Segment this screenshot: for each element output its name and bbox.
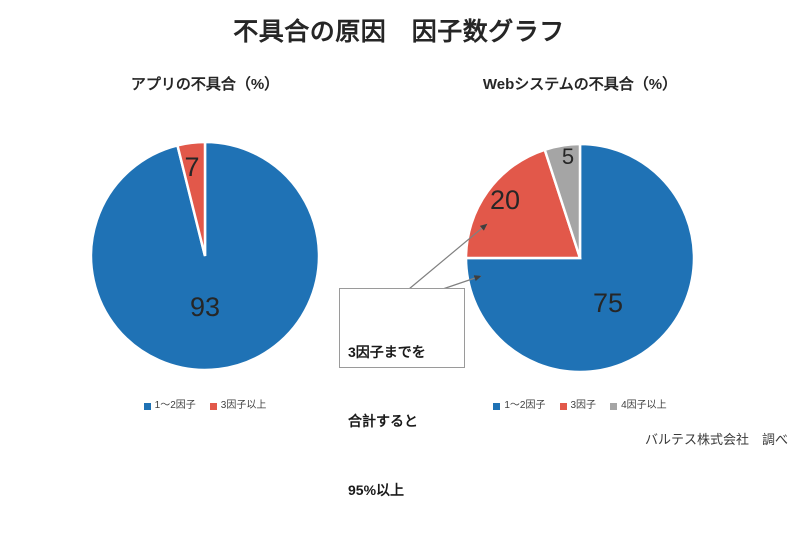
- left-chart-legend: 1〜2因子 3因子以上: [85, 399, 325, 413]
- legend-item-right-1[interactable]: 3因子: [560, 399, 597, 413]
- legend-label: 3因子以上: [221, 399, 267, 413]
- right-pie-chart: [464, 142, 696, 374]
- left-pie-label-red: 7: [168, 152, 216, 182]
- legend-swatch-icon: [210, 403, 217, 410]
- legend-item-right-2[interactable]: 4因子以上: [610, 399, 667, 413]
- legend-swatch-icon: [144, 403, 151, 410]
- page-title: 不具合の原因 因子数グラフ: [0, 16, 798, 48]
- legend-swatch-icon: [610, 403, 617, 410]
- right-pie-label-gray: 5: [547, 145, 589, 169]
- legend-label: 4因子以上: [621, 399, 667, 413]
- slide-canvas: 不具合の原因 因子数グラフ アプリの不具合（%） 93 7 1〜2因子 3因子以…: [0, 0, 798, 460]
- callout-line-1: 3因子までを: [348, 341, 464, 364]
- legend-item-left-0[interactable]: 1〜2因子: [144, 399, 196, 413]
- callout-line-3: 95%以上: [348, 479, 464, 502]
- legend-label: 1〜2因子: [504, 399, 545, 413]
- source-note: バルテス株式会社 調べ: [498, 431, 788, 449]
- legend-label: 3因子: [571, 399, 597, 413]
- right-pie-svg: [464, 142, 696, 374]
- legend-item-left-1[interactable]: 3因子以上: [210, 399, 267, 413]
- legend-item-right-0[interactable]: 1〜2因子: [493, 399, 545, 413]
- legend-swatch-icon: [560, 403, 567, 410]
- legend-label: 1〜2因子: [155, 399, 196, 413]
- callout-box: 3因子までを 合計すると 95%以上: [339, 288, 465, 368]
- right-pie-label-blue: 75: [575, 288, 641, 318]
- legend-swatch-icon: [493, 403, 500, 410]
- left-chart-title: アプリの不具合（%）: [85, 74, 325, 96]
- right-chart-legend: 1〜2因子 3因子 4因子以上: [455, 399, 705, 413]
- right-pie-label-red: 20: [475, 185, 535, 215]
- left-pie-label-blue: 93: [172, 292, 238, 322]
- callout-line-2: 合計すると: [348, 410, 464, 433]
- right-chart-title: Webシステムの不具合（%）: [455, 74, 705, 96]
